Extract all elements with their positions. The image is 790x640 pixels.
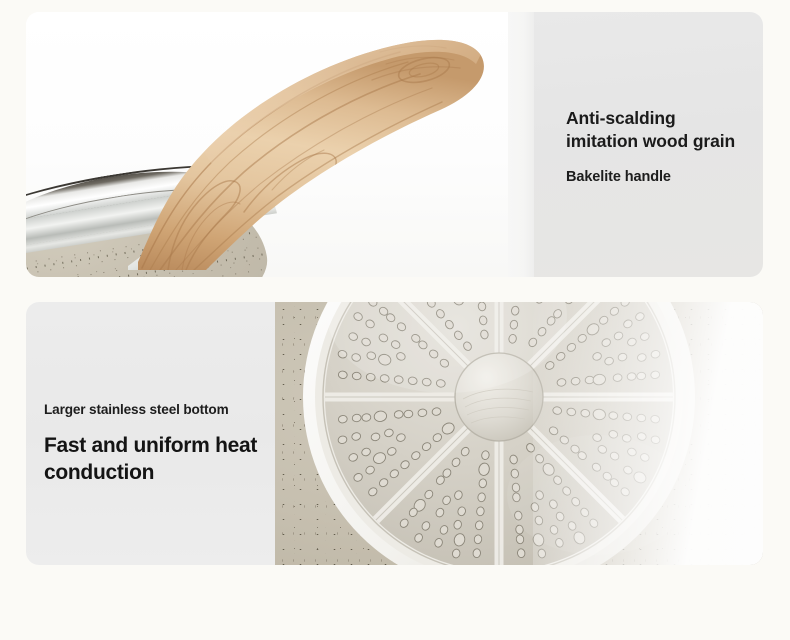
- base-headline-line-2: conduction: [44, 460, 276, 487]
- wood-grain-handle: [124, 30, 524, 270]
- panel-handle-feature: Anti-scalding imitation wood grain Bakel…: [26, 12, 763, 277]
- handle-photo: [26, 12, 508, 277]
- base-subline: Larger stainless steel bottom: [44, 402, 276, 417]
- panel-base-feature: Larger stainless steel bottom Fast and u…: [26, 302, 763, 565]
- product-feature-infographic: Anti-scalding imitation wood grain Bakel…: [0, 0, 790, 640]
- handle-arc-shape: [124, 30, 524, 270]
- handle-headline-line-2: imitation wood grain: [566, 130, 763, 153]
- base-headline-line-1: Fast and uniform heat: [44, 433, 276, 460]
- base-text-block: Larger stainless steel bottom Fast and u…: [44, 402, 276, 486]
- handle-headline-line-1: Anti-scalding: [566, 107, 763, 130]
- handle-subline: Bakelite handle: [566, 169, 763, 185]
- handle-text-block: Anti-scalding imitation wood grain Bakel…: [566, 107, 763, 185]
- handle-headline: Anti-scalding imitation wood grain: [566, 107, 763, 153]
- base-headline: Fast and uniform heat conduction: [44, 433, 276, 486]
- handle-body: [138, 40, 484, 270]
- base-right-highlight: [533, 302, 763, 565]
- photo-text-seam: [508, 12, 534, 277]
